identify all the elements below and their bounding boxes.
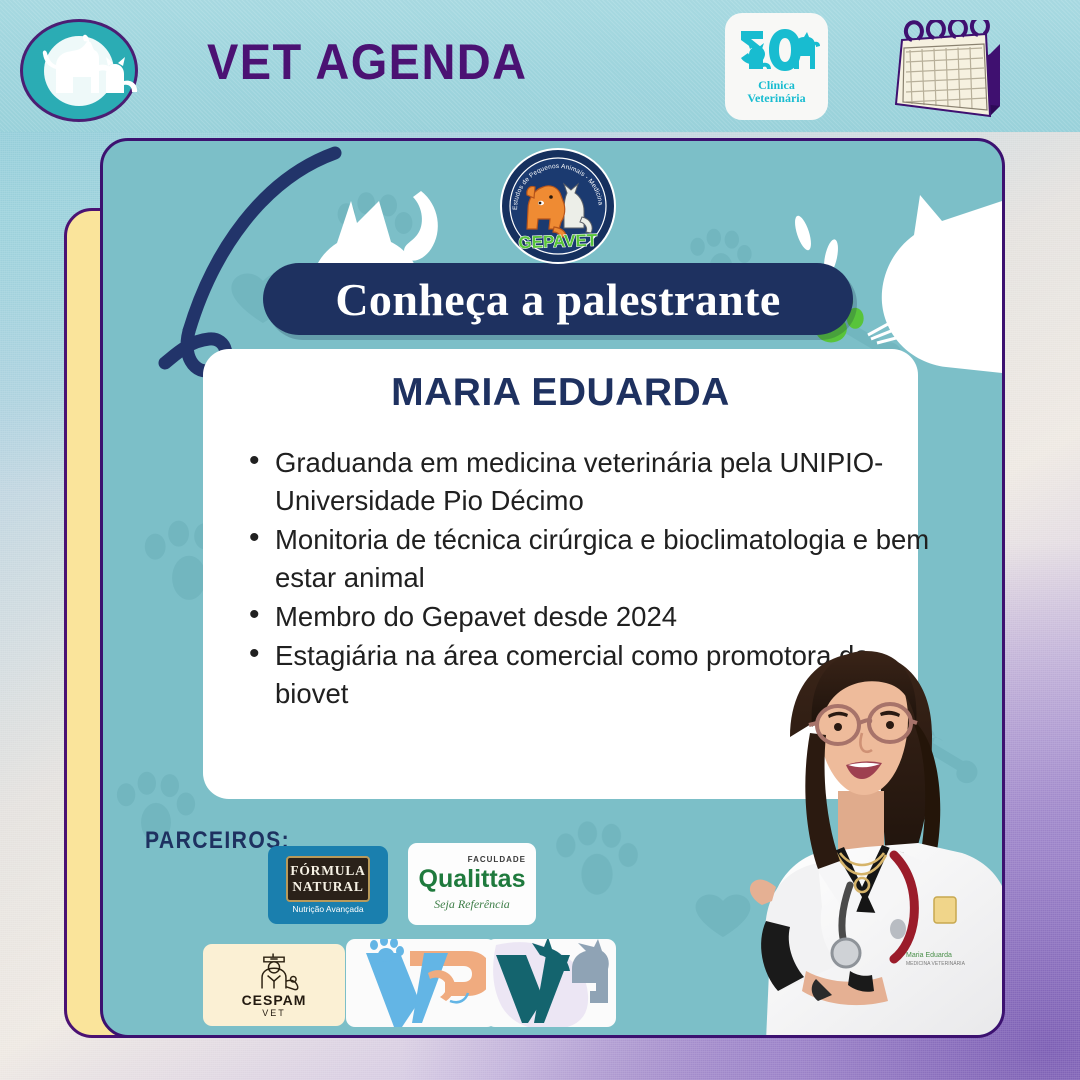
partner-qualittas-tagline: Seja Referência [408,897,536,912]
list-item: Membro do Gepavet desde 2024 [271,598,931,636]
partner-formula-line1: FÓRMULA [290,863,365,879]
main-content-card: Conheça a palestrante Grupo de Estudos d… [100,138,1005,1038]
gepavet-acronym: GEPAVET [518,231,598,253]
partner-logo-qualittas: FACULDADE Qualittas Seja Referência [408,843,536,925]
vp-monogram-icon [346,939,496,1027]
partner-formula-line2: NATURAL [292,879,363,895]
gepavet-badge-logo: Grupo de Estudos de Pequenos Animais - M… [499,147,617,265]
partner-qualittas-eyebrow: FACULDADE [408,855,536,864]
page-header: VET AGENDA Clínica Veterinária [0,0,1080,132]
partner-formula-tagline: Nutrição Avançada [268,904,388,914]
list-item: Graduanda em medicina veterinária pela U… [271,444,931,520]
desk-calendar-icon [878,20,1011,124]
svg-text:MEDICINA VETERINÁRIA: MEDICINA VETERINÁRIA [906,960,966,967]
clinic-logo-caption: Clínica Veterinária [725,79,828,105]
veterinarian-with-dog-icon [203,948,345,994]
clinic-30-mark-icon [733,21,820,81]
partner-qualittas-name: Qualittas [408,865,536,894]
dog-cat-circle-logo [20,19,138,122]
speaker-name: MARIA EDUARDA [203,371,918,415]
partner-logo-vg [486,939,616,1027]
vg-monogram-icon [486,939,616,1027]
partner-logo-formula-natural: FÓRMULA NATURAL Nutrição Avançada [268,846,388,924]
partner-logo-vp [346,939,496,1027]
clinic-30-logo: Clínica Veterinária [725,13,828,120]
section-title-ribbon: Conheça a palestrante [263,263,853,335]
list-item: Monitoria de técnica cirúrgica e bioclim… [271,521,931,597]
partner-cespam-tagline: VET [203,1008,345,1018]
dog-cat-silhouette-icon [20,19,138,122]
svg-text:Maria Eduarda: Maria Eduarda [906,952,952,959]
section-title-text: Conheça a palestrante [263,263,853,335]
page-title: VET AGENDA [207,33,527,91]
partner-logo-cespam-vet: CESPAM VET [203,944,345,1026]
speaker-photo: Maria Eduarda MEDICINA VETERINÁRIA [698,641,1005,1038]
partner-cespam-name: CESPAM [203,992,345,1008]
